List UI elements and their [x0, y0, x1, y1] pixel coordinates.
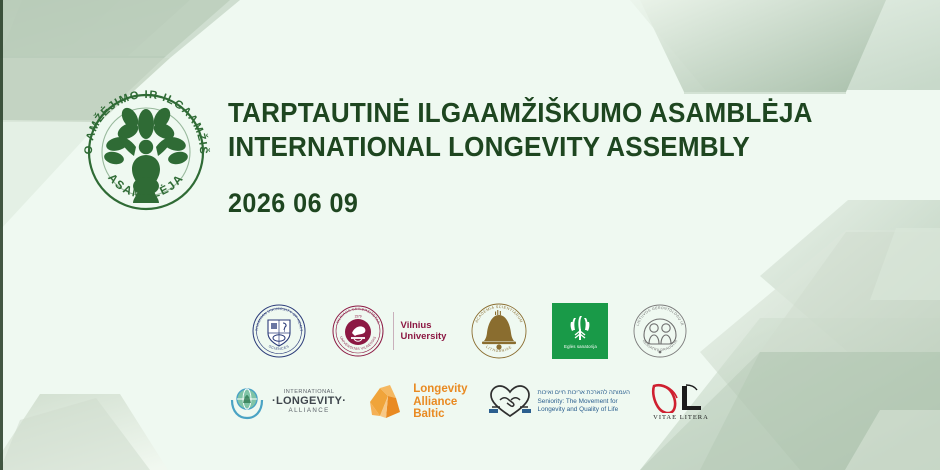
- event-date: 2026 06 09: [228, 188, 786, 218]
- fir-branches-icon: [567, 314, 593, 342]
- partner-logo-lsmu: LITHUANIAN UNIVERSITY OF HEALTH SCIENCES: [250, 302, 308, 360]
- title-lithuanian: TARPTAUTINĖ ILGAAMŽIŠKUMO ASAMBLĖJA: [228, 96, 786, 130]
- egles-sanatorija-label: Eglės sanatorija: [564, 344, 597, 349]
- partner-logo-international-longevity-alliance: INTERNATIONAL ·LONGEVITY· ALLIANCE: [228, 383, 346, 421]
- partner-logo-longevity-alliance-baltic: Longevity Alliance Baltic: [366, 382, 467, 422]
- vu-divider: [393, 312, 394, 350]
- partner-logo-vilnius-university: VILNIAUS UNIVERSITETAS UNIVERSITAS VILNE…: [330, 303, 447, 359]
- partner-logo-row-1: LITHUANIAN UNIVERSITY OF HEALTH SCIENCES: [0, 292, 940, 370]
- ila-line-3: ALLIANCE: [272, 408, 346, 414]
- seniority-hebrew: העמותה להארכת אריכות חיים ואיכות: [538, 389, 630, 398]
- svg-text:LIETUVOS GERONTOLOGŲ IR: LIETUVOS GERONTOLOGŲ IR: [636, 306, 685, 326]
- baltic-shapes-icon: [366, 382, 406, 422]
- ila-wordmark: INTERNATIONAL ·LONGEVITY· ALLIANCE: [272, 390, 346, 415]
- lgg-ring-text-top: LIETUVOS GERONTOLOGŲ IR: [636, 306, 685, 326]
- vu-wordmark: Vilnius University: [401, 320, 447, 342]
- lgg-ring-text-bottom: GERIATRŲ DRAUGIJA: [642, 339, 679, 352]
- title-english: INTERNATIONAL LONGEVITY ASSEMBLY: [228, 130, 786, 164]
- partner-logo-lithuanian-academy-of-sciences: ACADEMIA SCIENTIARUM LITHUANIAE: [468, 300, 530, 362]
- headline-block: TARPTAUTINĖ ILGAAMŽIŠKUMO ASAMBLĖJA INTE…: [228, 96, 828, 218]
- handshake-heart-icon: [488, 383, 532, 421]
- two-elders-icon: [644, 319, 676, 344]
- seniority-wordmark: העמותה להארכת אריכות חיים ואיכות Seniori…: [538, 389, 630, 415]
- partner-logo-vitae-litera: VITAE LITERA: [650, 383, 712, 421]
- partner-logo-egles-sanatorija: Eglės sanatorija: [552, 303, 608, 359]
- ila-line-2: ·LONGEVITY·: [272, 396, 346, 407]
- assembly-emblem: SVEIKO AMŽĖJIMO IR ILGAAMŽIŠKUMO ASAMBLĖ…: [72, 78, 220, 226]
- lab-wordmark: Longevity Alliance Baltic: [413, 383, 467, 421]
- vitae-litera-subtitle: VITAE LITERA: [653, 414, 709, 421]
- lab-line-2: Alliance: [413, 396, 467, 409]
- partner-logo-row-2: INTERNATIONAL ·LONGEVITY· ALLIANCE Longe…: [0, 378, 940, 426]
- vu-wordmark-line-2: University: [401, 331, 447, 342]
- vu-crest-icon: [345, 319, 371, 345]
- poster-canvas: SVEIKO AMŽĖJIMO IR ILGAAMŽIŠKUMO ASAMBLĖ…: [0, 0, 940, 470]
- vu-wordmark-line-1: Vilnius: [401, 320, 447, 331]
- partner-logo-seniority: העמותה להארכת אריכות חיים ואיכות Seniori…: [488, 383, 630, 421]
- partner-logo-gerontology-geriatrics-society: LIETUVOS GERONTOLOGŲ IR GERIATRŲ DRAUGIJ…: [630, 301, 690, 361]
- vitae-litera-monogram-icon: [650, 383, 712, 413]
- egles-sanatorija-tile: Eglės sanatorija: [552, 303, 608, 359]
- seniority-english-line-2: Longevity and Quality of Life: [538, 406, 630, 415]
- lsmu-shield-icon: [268, 320, 290, 346]
- svg-text:GERIATRŲ DRAUGIJA: GERIATRŲ DRAUGIJA: [642, 339, 679, 352]
- bell-icon: [482, 310, 516, 350]
- lab-line-3: Baltic: [413, 408, 467, 421]
- vu-founded-year: 1579: [354, 315, 361, 319]
- globe-hands-icon: [228, 383, 266, 421]
- lab-line-1: Longevity: [413, 383, 467, 396]
- seniority-english-line-1: Seniority: The Movement for: [538, 398, 630, 407]
- partner-logos: LITHUANIAN UNIVERSITY OF HEALTH SCIENCES: [0, 292, 940, 426]
